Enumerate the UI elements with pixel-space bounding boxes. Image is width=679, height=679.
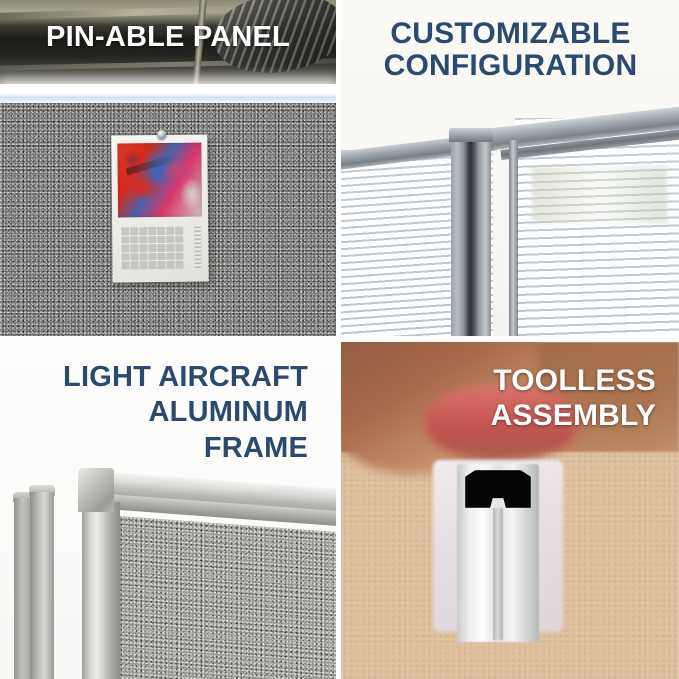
panel-customizable-configuration: CUSTOMIZABLE CONFIGURATION [341, 0, 679, 336]
fabric-insert [118, 516, 336, 679]
aluminum-post-cap [449, 128, 493, 142]
caption-customizable-configuration: CUSTOMIZABLE CONFIGURATION [341, 18, 679, 83]
middle-aluminum-post [30, 492, 54, 679]
calendar-side-text [194, 227, 201, 271]
panel-toolless-assembly: TOOLLESS ASSEMBLY [341, 342, 679, 679]
caption-toolless-assembly: TOOLLESS ASSEMBLY [341, 364, 668, 434]
front-aluminum-post [82, 502, 120, 679]
panel-pin-able-panel: PIN-ABLE PANEL [0, 0, 336, 336]
caption-pin-able-panel: PIN-ABLE PANEL [0, 22, 336, 53]
calendar-artwork [117, 143, 202, 218]
push-pin-icon [157, 130, 166, 139]
extrusion-center-slot [493, 508, 503, 640]
pinned-calendar [111, 135, 209, 283]
feature-collage: PIN-ABLE PANEL CUSTOMIZABLE CONFIGURATIO… [0, 0, 679, 679]
glass-jamb-right [509, 140, 518, 336]
panel-light-aircraft-aluminum-frame: LIGHT AIRCRAFT ALUMINUM FRAME [0, 342, 336, 679]
calendar-date-grid [121, 227, 183, 270]
aluminum-corner-joint [78, 468, 114, 512]
aluminum-connector-post [451, 134, 491, 336]
caption-light-aircraft-aluminum-frame: LIGHT AIRCRAFT ALUMINUM FRAME [0, 360, 320, 466]
